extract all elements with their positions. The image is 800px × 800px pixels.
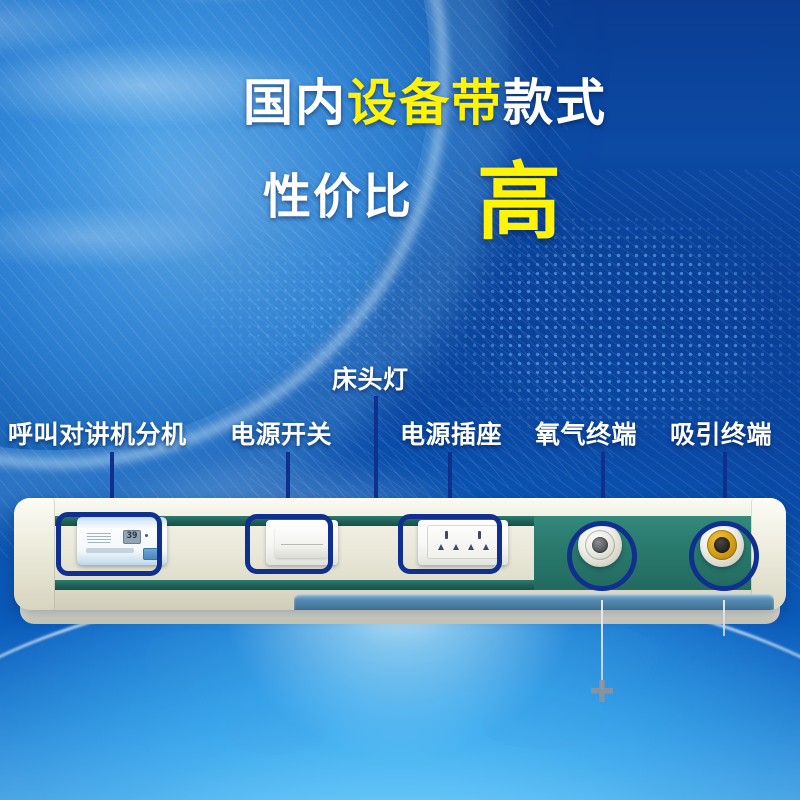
highlight-box-switch <box>245 514 333 574</box>
callout-label-oxygen: 氧气终端 <box>535 415 637 451</box>
highlight-circle-suction <box>689 521 759 591</box>
headline-block: 国内设备带款式 性价比 高 <box>0 78 800 240</box>
headline-subtitle: 性价比 <box>263 174 413 222</box>
pull-cord-oxygen[interactable] <box>601 600 603 690</box>
headline-emphasis: 高 <box>477 160 561 244</box>
highlight-box-intercom <box>56 512 162 576</box>
promo-image: 国内设备带款式 性价比 高 呼叫对讲机分机 电源开关 床头灯 电源插座 氧气终端… <box>0 0 800 800</box>
highlight-box-socket <box>398 514 502 574</box>
callout-label-switch: 电源开关 <box>230 415 332 451</box>
headline-line-1: 国内设备带款式 <box>0 78 800 128</box>
callout-label-socket: 电源插座 <box>400 415 502 451</box>
panel-left-cap <box>14 498 55 610</box>
headline-line-2: 性价比 高 <box>0 156 800 240</box>
bottom-sheen <box>0 620 800 800</box>
callout-label-suction: 吸引终端 <box>670 415 772 451</box>
pull-cord-suction[interactable] <box>723 600 725 636</box>
callout-label-bedlamp: 床头灯 <box>332 360 409 396</box>
headline-part-1: 国内 <box>243 75 347 131</box>
headline-part-2: 设备带 <box>347 75 503 131</box>
headline-part-3: 款式 <box>503 75 607 131</box>
highlight-circle-oxygen <box>567 521 637 591</box>
callout-label-intercom: 呼叫对讲机分机 <box>8 415 187 451</box>
panel-rail <box>294 594 774 610</box>
